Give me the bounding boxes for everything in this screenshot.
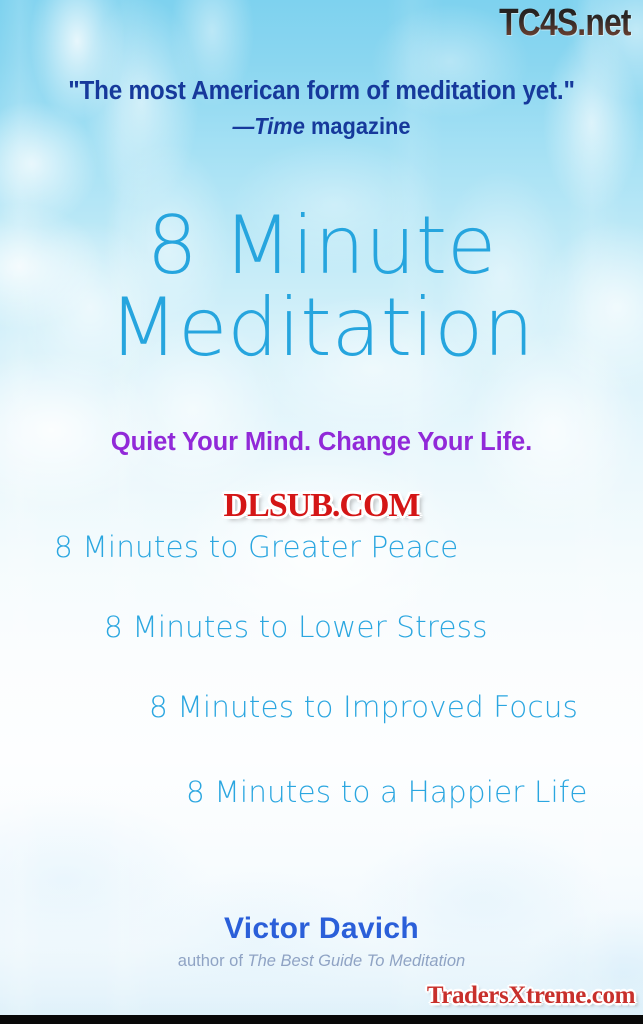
watermark-tradersxtreme: TradersXtreme.com <box>427 982 635 1010</box>
benefit-line-4: 8 Minutes to a Happier Life <box>186 775 588 809</box>
book-title: 8 Minute Meditation <box>0 205 643 368</box>
review-quote: "The most American form of meditation ye… <box>16 77 627 106</box>
benefit-line-1: 8 Minutes to Greater Peace <box>54 530 458 564</box>
author-name: Victor Davich <box>0 912 643 946</box>
book-cover: TC4S.net "The most American form of medi… <box>0 0 643 1024</box>
review-source-suffix: magazine <box>305 113 411 139</box>
author-credit: author of The Best Guide To Meditation <box>0 952 643 971</box>
benefit-line-2: 8 Minutes to Lower Stress <box>104 610 488 644</box>
cover-text-layer: TC4S.net "The most American form of medi… <box>0 0 643 1024</box>
review-source: —Time <box>232 113 304 139</box>
watermark-tc4s: TC4S.net <box>499 2 631 45</box>
book-title-line-1: 8 Minute <box>0 205 643 287</box>
book-title-line-2: Meditation <box>0 287 643 369</box>
review-attribution: —Time magazine <box>16 113 627 140</box>
author-previous-book-title: The Best Guide To Meditation <box>248 952 466 970</box>
author-credit-prefix: author of <box>178 952 248 970</box>
benefit-line-3: 8 Minutes to Improved Focus <box>149 690 578 724</box>
watermark-dlsub: DLSUB.COM <box>224 487 420 525</box>
book-subtitle: Quiet Your Mind. Change Your Life. <box>0 428 643 457</box>
bottom-black-band <box>0 1015 643 1024</box>
